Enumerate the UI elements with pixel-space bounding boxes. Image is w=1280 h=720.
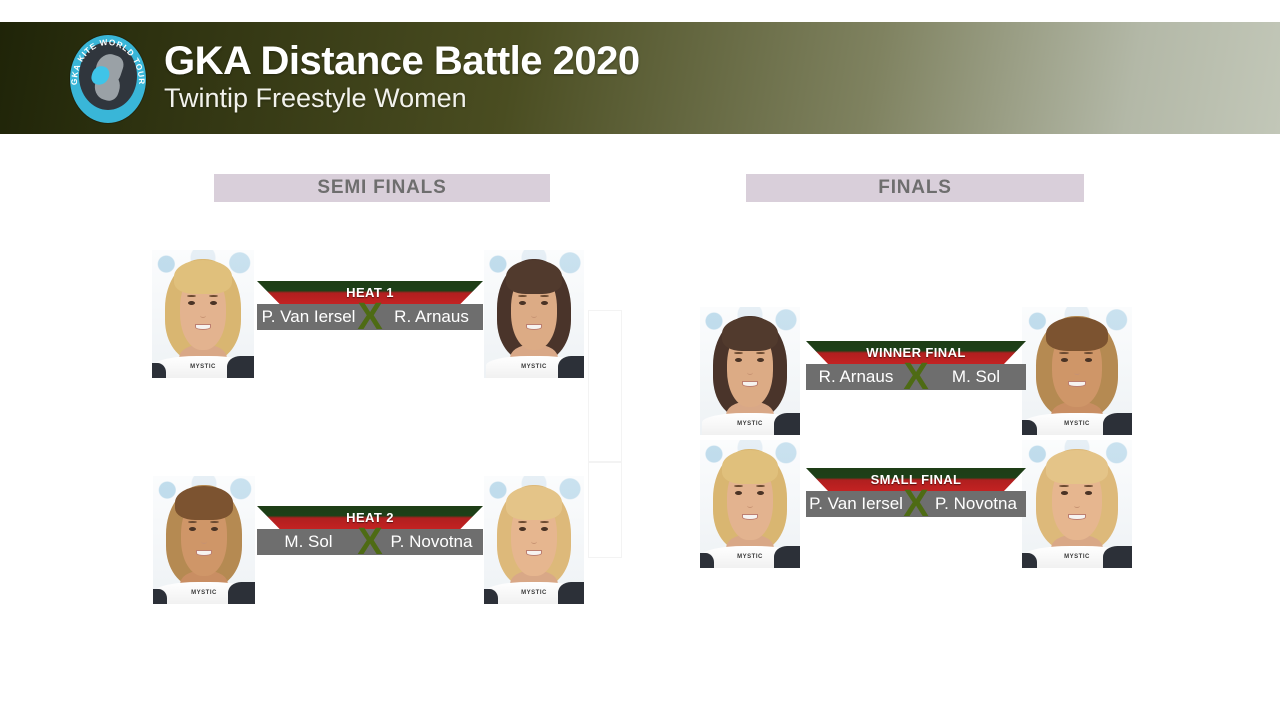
match-heat-2[interactable]: HEAT 2 M. Sol P. Novotna X (257, 506, 483, 555)
match-competitors-small-final: P. Van Iersel P. Novotna X (806, 491, 1026, 517)
match-competitors-winner-final: R. Arnaus M. Sol X (806, 364, 1026, 390)
round-title-finals: FINALS (746, 174, 1084, 202)
competitor-left-name[interactable]: P. Van Iersel (257, 304, 370, 330)
photo-r-arnaus-final: MYSTIC (700, 307, 800, 435)
logo-arc-label: GKA KITE WORLD TOUR (70, 38, 146, 85)
photo-p-van-iersel-final: MYSTIC (700, 440, 800, 568)
photo-p-van-iersel-semi: MYSTIC (152, 250, 254, 378)
bracket-connector-top (588, 310, 622, 462)
competitor-right-name[interactable]: P. Novotna (916, 491, 1026, 517)
event-title: GKA Distance Battle 2020 (164, 40, 640, 82)
competitor-left-name[interactable]: P. Van Iersel (806, 491, 916, 517)
photo-brand-label: MYSTIC (737, 554, 763, 560)
versus-x-icon: X (357, 298, 382, 336)
versus-x-icon: X (903, 358, 928, 396)
competitor-left-name[interactable]: R. Arnaus (806, 364, 916, 390)
photo-brand-label: MYSTIC (521, 364, 547, 370)
competitor-right-name[interactable]: M. Sol (916, 364, 1026, 390)
match-competitors-heat-2: M. Sol P. Novotna X (257, 529, 483, 555)
match-winner-final[interactable]: WINNER FINAL R. Arnaus M. Sol X (806, 341, 1026, 390)
event-subtitle: Twintip Freestyle Women (164, 83, 640, 114)
competitor-right-name[interactable]: P. Novotna (370, 529, 483, 555)
photo-brand-label: MYSTIC (1064, 554, 1090, 560)
svg-text:GKA KITE WORLD TOUR: GKA KITE WORLD TOUR (70, 38, 146, 85)
versus-x-icon: X (357, 523, 382, 561)
competitor-left-name[interactable]: M. Sol (257, 529, 370, 555)
header-text-block: GKA Distance Battle 2020 Twintip Freesty… (164, 40, 640, 116)
photo-brand-label: MYSTIC (1064, 421, 1090, 427)
photo-brand-label: MYSTIC (191, 590, 217, 596)
versus-x-icon: X (903, 485, 928, 523)
match-heat-1[interactable]: HEAT 1 P. Van Iersel R. Arnaus X (257, 281, 483, 330)
photo-p-novotna-semi: MYSTIC (484, 476, 584, 604)
photo-brand-label: MYSTIC (190, 364, 216, 370)
photo-m-sol-final: MYSTIC (1022, 307, 1132, 435)
photo-p-novotna-final: MYSTIC (1022, 440, 1132, 568)
match-competitors-heat-1: P. Van Iersel R. Arnaus X (257, 304, 483, 330)
match-small-final[interactable]: SMALL FINAL P. Van Iersel P. Novotna X (806, 468, 1026, 517)
photo-brand-label: MYSTIC (737, 421, 763, 427)
competitor-right-name[interactable]: R. Arnaus (370, 304, 483, 330)
bracket-connector-bottom (588, 462, 622, 558)
round-title-semi-finals: SEMI FINALS (214, 174, 550, 202)
bracket-page: GKA KITE WORLD TOUR GKA Distance Battle … (0, 0, 1280, 720)
photo-brand-label: MYSTIC (521, 590, 547, 596)
gka-logo: GKA KITE WORLD TOUR (70, 32, 148, 124)
logo-arc-text: GKA KITE WORLD TOUR (70, 35, 146, 123)
event-header: GKA KITE WORLD TOUR GKA Distance Battle … (0, 22, 1280, 134)
photo-m-sol-semi: MYSTIC (153, 476, 255, 604)
photo-r-arnaus-semi: MYSTIC (484, 250, 584, 378)
